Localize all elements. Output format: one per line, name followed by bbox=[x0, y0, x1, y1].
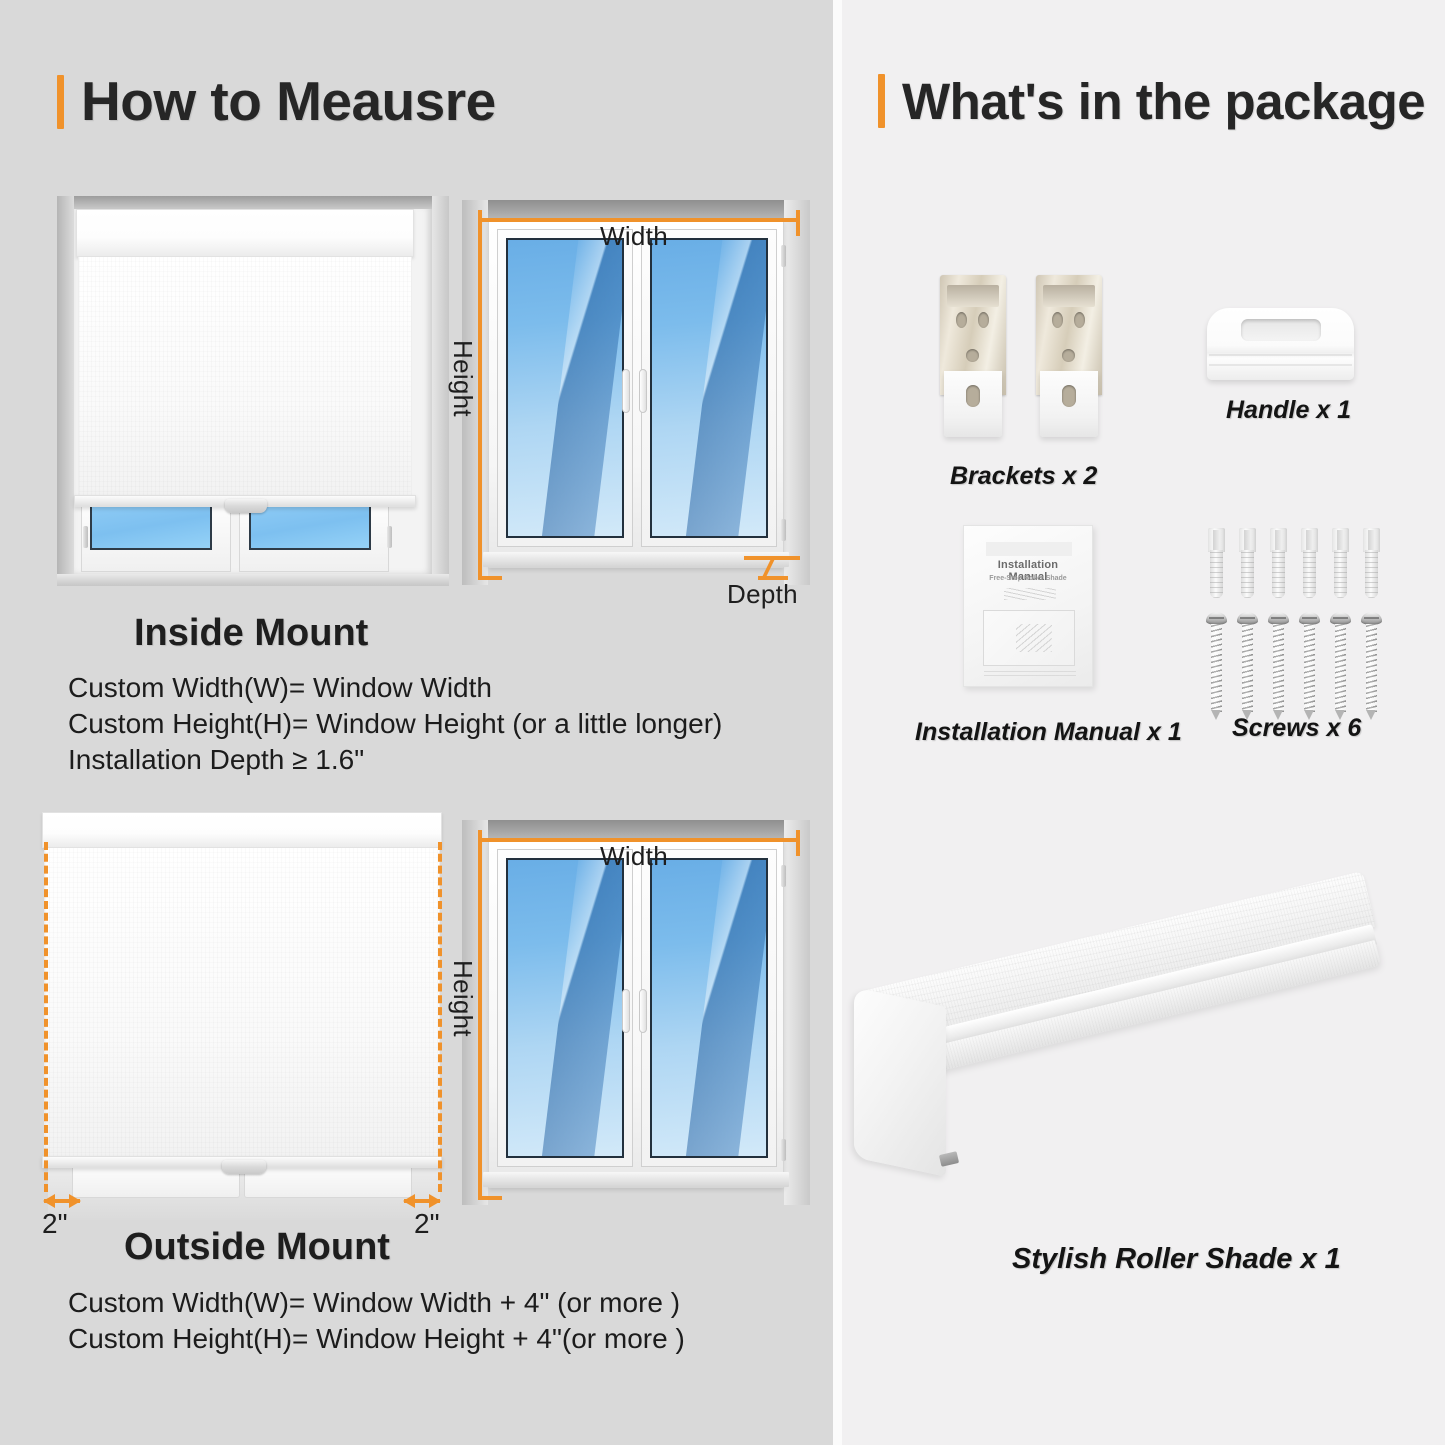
width-label: Width bbox=[600, 841, 668, 872]
window-glass-left bbox=[506, 238, 624, 538]
inside-mount-line-1: Custom Width(W)= Window Width bbox=[68, 670, 722, 706]
bracket-hole bbox=[966, 349, 979, 362]
overhang-guide-right bbox=[438, 842, 442, 1192]
window-glass-left bbox=[506, 858, 624, 1158]
overhang-arrow-left bbox=[44, 1194, 80, 1208]
handle-ridge bbox=[1209, 364, 1352, 366]
screw bbox=[1330, 612, 1351, 720]
overhang-arrow-right bbox=[404, 1194, 440, 1208]
outside-mount-illustration: 2" 2" bbox=[30, 812, 450, 1222]
handle-label: Handle x 1 bbox=[1226, 396, 1351, 425]
handle-part bbox=[1207, 308, 1354, 380]
screw bbox=[1268, 612, 1289, 720]
manual-cover-subtitle: Free-Stop Roller Shade bbox=[977, 575, 1079, 582]
window-sash-right bbox=[641, 849, 777, 1167]
width-measure-cap-right bbox=[796, 210, 800, 236]
brackets-label: Brackets x 2 bbox=[950, 462, 1097, 491]
bracket-item bbox=[1036, 275, 1102, 437]
window-hinge-right bbox=[387, 526, 392, 548]
wall-anchor bbox=[1330, 528, 1351, 598]
window-glass-right bbox=[650, 238, 768, 538]
inside-mount-line-3: Installation Depth ≥ 1.6" bbox=[68, 742, 722, 778]
window-reveal-right bbox=[784, 820, 810, 1205]
package-heading: What's in the package bbox=[878, 74, 1425, 128]
screw bbox=[1237, 612, 1258, 720]
outside-mount-window-diagram: Width Height bbox=[462, 820, 810, 1205]
wall-anchor bbox=[1361, 528, 1382, 598]
accent-bar-icon bbox=[57, 75, 64, 129]
overhang-label-right: 2" bbox=[414, 1208, 440, 1240]
height-measure-line bbox=[478, 218, 482, 580]
window-hinge-left bbox=[83, 526, 88, 548]
how-to-measure-panel: How to Meausre bbox=[0, 0, 833, 1445]
width-label: Width bbox=[600, 221, 668, 252]
screw bbox=[1361, 612, 1382, 720]
overhang-label-left: 2" bbox=[42, 1208, 68, 1240]
manual-band bbox=[986, 542, 1072, 556]
bracket-hole bbox=[1074, 312, 1085, 328]
height-label: Height bbox=[447, 960, 478, 1037]
inside-mount-illustration bbox=[57, 196, 449, 586]
outside-mount-line-1: Custom Width(W)= Window Width + 4" (or m… bbox=[68, 1285, 685, 1321]
bracket-item bbox=[940, 275, 1006, 437]
installation-manual: Installation Manual Free-Stop Roller Sha… bbox=[963, 525, 1093, 687]
heading-text: How to Meausre bbox=[81, 74, 496, 129]
roller-shade-clip bbox=[939, 1151, 959, 1167]
overhang-guide-left bbox=[44, 842, 48, 1192]
bracket-center-hole bbox=[1062, 385, 1076, 407]
wall-anchor bbox=[1237, 528, 1258, 598]
outside-shade-handle-tab bbox=[222, 1160, 266, 1174]
window-handle-left bbox=[622, 989, 630, 1033]
shade-handle-tab bbox=[225, 499, 267, 513]
bracket-center-hole bbox=[966, 385, 980, 407]
window-handle-right bbox=[639, 369, 647, 413]
window-sash-left bbox=[497, 229, 633, 547]
wall-anchor bbox=[1299, 528, 1320, 598]
screws-label: Screws x 6 bbox=[1232, 714, 1361, 743]
width-measure-cap-right bbox=[796, 830, 800, 856]
window-glass-right bbox=[650, 858, 768, 1158]
window-frame bbox=[488, 840, 784, 1188]
wall-anchor bbox=[1268, 528, 1289, 598]
window-pane-right bbox=[249, 502, 371, 550]
window-handle-left bbox=[622, 369, 630, 413]
shade-fabric bbox=[78, 257, 412, 497]
inside-mount-text: Custom Width(W)= Window Width Custom Hei… bbox=[68, 670, 722, 778]
screw bbox=[1206, 612, 1227, 720]
roller-shade-end-cap bbox=[854, 987, 946, 1177]
window-pane-left bbox=[90, 502, 212, 550]
how-to-measure-heading: How to Meausre bbox=[57, 74, 496, 129]
roller-shade-product bbox=[854, 895, 1379, 1225]
window-hinge-top-right bbox=[781, 245, 786, 267]
outside-shade-headrail bbox=[42, 812, 442, 848]
outside-shade-fabric bbox=[44, 848, 440, 1158]
depth-label: Depth bbox=[727, 579, 798, 610]
manual-figure-box bbox=[983, 610, 1075, 666]
panel-divider bbox=[833, 0, 842, 1445]
recess-top-lip bbox=[57, 196, 449, 209]
outside-mount-title: Outside Mount bbox=[124, 1226, 390, 1269]
window-frame bbox=[488, 220, 784, 568]
height-measure-cap-bottom bbox=[478, 576, 502, 580]
window-sash-right bbox=[641, 229, 777, 547]
height-measure-line bbox=[478, 838, 482, 1200]
manual-label: Installation Manual x 1 bbox=[915, 718, 1182, 747]
window-handle-right bbox=[639, 989, 647, 1033]
shade-headrail bbox=[76, 209, 414, 257]
inside-mount-window-diagram: Width Height Depth bbox=[462, 200, 810, 585]
recess-left-lip bbox=[57, 196, 74, 586]
window-hinge-top-right bbox=[781, 865, 786, 887]
bracket-hole bbox=[978, 312, 989, 328]
handle-slot bbox=[1241, 319, 1321, 341]
inside-mount-title: Inside Mount bbox=[134, 612, 368, 655]
heading-text: What's in the package bbox=[902, 76, 1425, 127]
window-sill bbox=[483, 1172, 789, 1187]
handle-ridge bbox=[1209, 354, 1352, 356]
roller-shade-label: Stylish Roller Shade x 1 bbox=[1012, 1243, 1341, 1276]
package-contents-panel: What's in the package bbox=[842, 0, 1445, 1445]
window-reveal-right bbox=[784, 200, 810, 585]
depth-measure-mark bbox=[744, 556, 804, 580]
wall-anchor bbox=[1206, 528, 1227, 598]
inside-mount-line-2: Custom Height(H)= Window Height (or a li… bbox=[68, 706, 722, 742]
manual-scribble bbox=[1004, 588, 1056, 600]
window-hinge-bottom-right bbox=[781, 1139, 786, 1161]
screw bbox=[1299, 612, 1320, 720]
bracket-hole bbox=[956, 312, 967, 328]
window-lintel bbox=[462, 200, 810, 220]
manual-footer-lines bbox=[984, 668, 1076, 676]
window-hinge-bottom-right bbox=[781, 519, 786, 541]
outside-mount-text: Custom Width(W)= Window Width + 4" (or m… bbox=[68, 1285, 685, 1357]
height-measure-cap-bottom bbox=[478, 1196, 502, 1200]
bracket-hole bbox=[1062, 349, 1075, 362]
bracket-hole bbox=[1052, 312, 1063, 328]
window-lintel bbox=[462, 820, 810, 840]
outside-mount-line-2: Custom Height(H)= Window Height + 4"(or … bbox=[68, 1321, 685, 1357]
recess-sill bbox=[57, 574, 449, 586]
infographic-page: How to Meausre bbox=[0, 0, 1445, 1445]
accent-bar-icon bbox=[878, 74, 885, 128]
height-label: Height bbox=[447, 340, 478, 417]
window-sash-left bbox=[497, 849, 633, 1167]
